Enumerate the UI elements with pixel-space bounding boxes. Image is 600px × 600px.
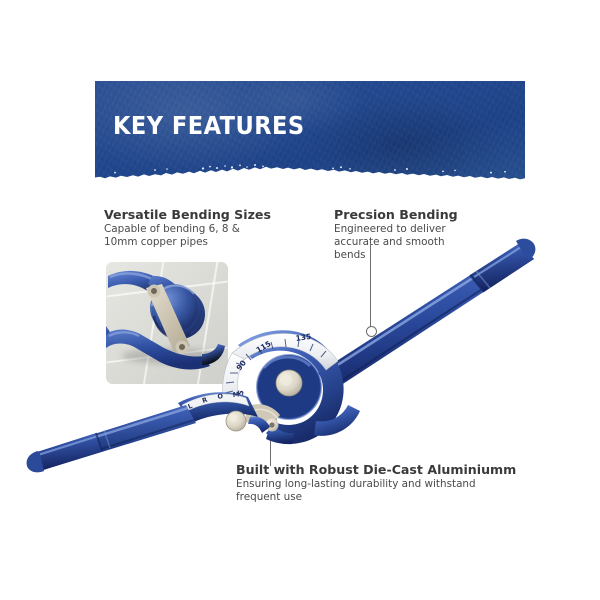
product-pipe-bender-illustration: 45 90 115 135 [0,225,600,475]
product-upper-arm [318,239,535,391]
feature-title: Versatile Bending Sizes [104,207,271,222]
banner-title: KEY FEATURES [113,111,305,140]
banner-torn-edge-icon [95,159,525,185]
svg-text:M: M [232,390,239,399]
feature-title: Precsion Bending [334,207,464,222]
feature-description: Ensuring long-lasting durability and wit… [236,478,486,504]
product-lower-arm [27,405,196,472]
key-features-banner: KEY FEATURES [95,81,525,185]
infographic-canvas: KEY FEATURES Versatile Bending Sizes Cap… [0,0,600,600]
